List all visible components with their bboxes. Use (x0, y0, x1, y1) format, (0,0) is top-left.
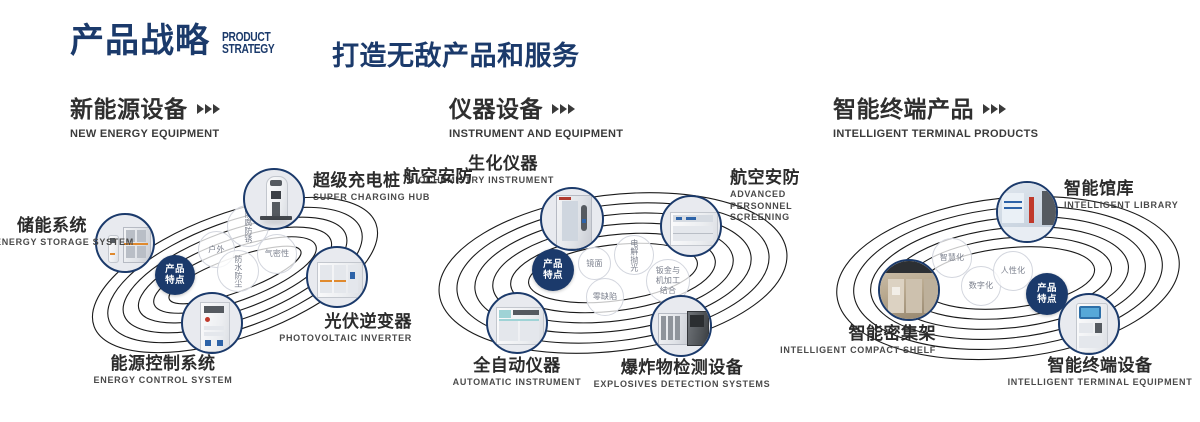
node-personnel-screening[interactable] (660, 195, 722, 257)
feature-bubble-airtight: 气密性 (257, 234, 297, 274)
inverter-cabinet-icon (308, 248, 366, 306)
node-label-cn: 光伏逆变器 (260, 313, 412, 331)
cluster-instrument: 产品 特点 镜面 电解抛光 钣金与机加工结合 零缺陷 生化仪器 BIOCHEMI… (418, 155, 808, 390)
node-charging-hub[interactable] (243, 168, 305, 230)
page-slogan: 打造无敌产品和服务 (332, 34, 580, 73)
chevron-right-icon (197, 104, 220, 114)
node-label-energy-storage: 储能系统 ENERGY STORAGE SYSTEM (0, 217, 87, 249)
section-title-cn: 智能终端产品 (833, 98, 974, 121)
feature-bubble-waterproof: 防水防尘 (217, 250, 259, 292)
poster-canvas: 产品战略 PRODUCT STRATEGY 打造无敌产品和服务 新能源设备 NE… (0, 0, 1200, 422)
core-bubble-line2: 特点 (165, 275, 185, 286)
node-label-en: INTELLIGENT LIBRARY (1064, 200, 1178, 211)
node-label-cn: 全自动仪器 (422, 357, 612, 375)
charging-pile-icon (245, 170, 303, 228)
node-photovoltaic-inverter[interactable] (306, 246, 368, 308)
node-label-en: ENERGY CONTROL SYSTEM (73, 375, 253, 386)
feature-bubble-humanized: 人性化 (993, 251, 1033, 291)
node-label-cn: 智能终端设备 (1002, 357, 1198, 375)
section-title-en: INSTRUMENT AND EQUIPMENT (449, 128, 623, 140)
core-bubble-line1: 产品 (543, 259, 563, 270)
screening-machine-icon (662, 197, 720, 255)
node-label-cn: 航空安防 (403, 168, 473, 186)
section-title-en: NEW ENERGY EQUIPMENT (70, 128, 220, 140)
smart-library-icon (998, 183, 1056, 241)
node-label-en: INTELLIGENT TERMINAL EQUIPMENT (1002, 377, 1198, 388)
body-scanner-icon (542, 189, 602, 249)
explosives-detector-icon (652, 297, 710, 355)
page-title-english-line1: PRODUCT (222, 31, 274, 44)
node-compact-shelf[interactable] (878, 259, 940, 321)
page-title-english: PRODUCT STRATEGY (222, 31, 274, 57)
node-label-energy-control: 能源控制系统 ENERGY CONTROL SYSTEM (73, 355, 253, 387)
node-label-en: SUPER CHARGING HUB (313, 192, 430, 203)
node-automatic-instrument[interactable] (486, 292, 548, 354)
chevron-right-icon (983, 104, 1006, 114)
node-explosives-detection[interactable] (650, 295, 712, 357)
node-smart-library[interactable] (996, 181, 1058, 243)
node-label-en: EXPLOSIVES DETECTION SYSTEMS (586, 379, 778, 390)
control-cabinet-icon (183, 294, 241, 352)
node-terminal-equipment[interactable] (1058, 293, 1120, 355)
page-title-english-line2: STRATEGY (222, 43, 274, 56)
core-bubble-line1: 产品 (165, 264, 185, 275)
core-bubble: 产品 特点 (532, 249, 574, 291)
automatic-analyzer-icon (488, 294, 546, 352)
node-label-cn: 智能密集架 (756, 325, 936, 343)
node-label-aviation-security-left: 航空安防 (403, 168, 473, 186)
cluster-new-energy: 产品 特点 户外 防腐防锈 防水防尘 气密性 储能系统 ENERGY STORA… (55, 155, 415, 385)
node-label-automatic-instrument: 全自动仪器 AUTOMATIC INSTRUMENT (422, 357, 612, 389)
cluster-intelligent-terminal: 产品 特点 智慧化 数字化 人性化 智能馆库 INTELLIGENT LIBRA… (818, 160, 1198, 390)
node-label-en: ENERGY STORAGE SYSTEM (0, 237, 87, 248)
chevron-right-icon (552, 104, 575, 114)
section-title-instrument: 仪器设备 INSTRUMENT AND EQUIPMENT (449, 98, 623, 140)
node-label-compact-shelf: 智能密集架 INTELLIGENT COMPACT SHELF (756, 325, 936, 357)
node-label-photovoltaic-inverter: 光伏逆变器 PHOTOVOLTAIC INVERTER (260, 313, 412, 345)
node-label-explosives-detection: 爆炸物检测设备 EXPLOSIVES DETECTION SYSTEMS (586, 359, 778, 391)
node-energy-control[interactable] (181, 292, 243, 354)
core-bubble: 产品 特点 (155, 255, 195, 295)
node-label-cn: 爆炸物检测设备 (586, 359, 778, 377)
node-label-terminal-equipment: 智能终端设备 INTELLIGENT TERMINAL EQUIPMENT (1002, 357, 1198, 389)
node-label-smart-library: 智能馆库 INTELLIGENT LIBRARY (1064, 180, 1178, 212)
section-title-cn: 新能源设备 (70, 98, 188, 121)
compact-shelf-icon (880, 261, 938, 319)
section-title-intelligent-terminal: 智能终端产品 INTELLIGENT TERMINAL PRODUCTS (833, 98, 1038, 140)
self-service-kiosk-icon (1060, 295, 1118, 353)
node-label-en: AUTOMATIC INSTRUMENT (422, 377, 612, 388)
feature-bubble-zero-defect: 零缺陷 (586, 278, 624, 316)
node-label-cn: 能源控制系统 (73, 355, 253, 373)
feature-bubble-mirror: 镜面 (578, 247, 611, 280)
section-title-en: INTELLIGENT TERMINAL PRODUCTS (833, 128, 1038, 140)
node-label-cn: 储能系统 (0, 217, 87, 235)
node-label-cn: 智能馆库 (1064, 180, 1178, 198)
poster-header: 产品战略 PRODUCT STRATEGY (70, 24, 286, 58)
core-bubble-line2: 特点 (543, 270, 563, 281)
node-label-en: INTELLIGENT COMPACT SHELF (756, 345, 936, 356)
page-title: 产品战略 (70, 24, 210, 58)
node-label-en: PHOTOVOLTAIC INVERTER (260, 333, 412, 344)
node-biochemistry-instrument[interactable] (540, 187, 604, 251)
section-title-cn: 仪器设备 (449, 98, 543, 121)
core-bubble-line1: 产品 (1037, 283, 1057, 294)
section-title-new-energy: 新能源设备 NEW ENERGY EQUIPMENT (70, 98, 220, 140)
core-bubble-line2: 特点 (1037, 294, 1057, 305)
